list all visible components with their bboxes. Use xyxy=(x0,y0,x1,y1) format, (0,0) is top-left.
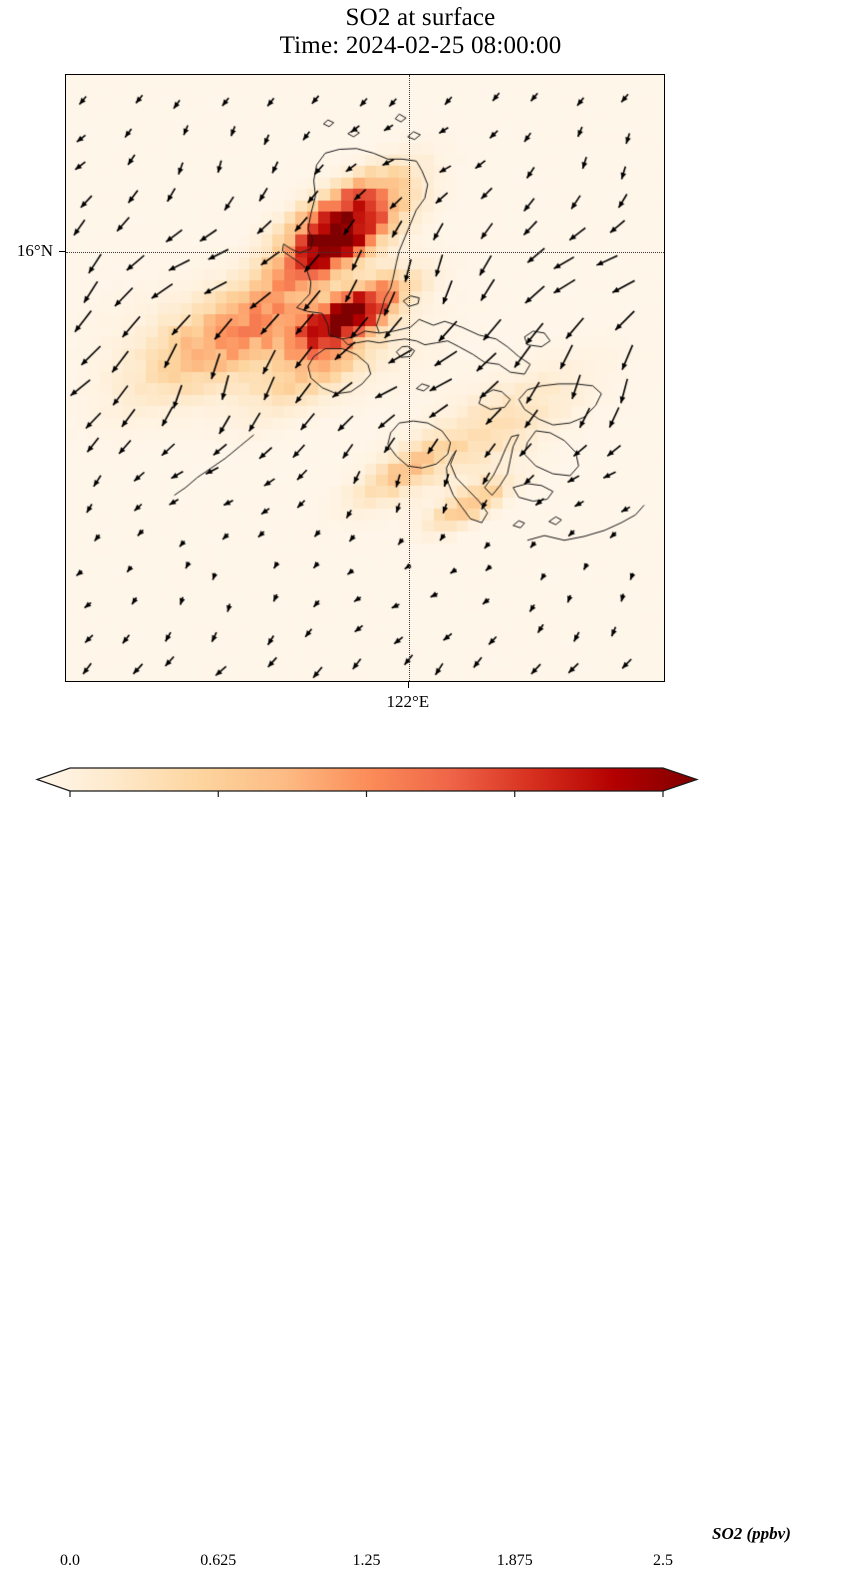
colorbar-tick-label: 0.0 xyxy=(60,1552,80,1570)
colorbar-gradient xyxy=(0,756,841,836)
colorbar-tick-label: 2.5 xyxy=(653,1552,673,1570)
tick-label-longitude-122e: 122°E xyxy=(387,692,430,712)
colorbar-label: SO2 (ppbv) xyxy=(712,1524,791,1544)
tick-label-latitude-16n: 16°N xyxy=(0,241,53,261)
map-plot-area[interactable] xyxy=(65,74,665,682)
colorbar[interactable]: SO2 (ppbv) 0.00.6251.251.8752.5 xyxy=(0,756,841,836)
tick-mark-longitude xyxy=(408,682,409,688)
title-line-variable: SO2 at surface xyxy=(0,4,841,32)
figure-title: SO2 at surface Time: 2024-02-25 08:00:00 xyxy=(0,4,841,60)
tick-mark-latitude xyxy=(59,251,65,252)
so2-heatmap-canvas xyxy=(66,75,664,681)
colorbar-tick-label: 1.25 xyxy=(353,1552,381,1570)
colorbar-tick-label: 1.875 xyxy=(497,1552,533,1570)
colorbar-tick-label: 0.625 xyxy=(200,1552,236,1570)
title-line-time: Time: 2024-02-25 08:00:00 xyxy=(0,32,841,60)
